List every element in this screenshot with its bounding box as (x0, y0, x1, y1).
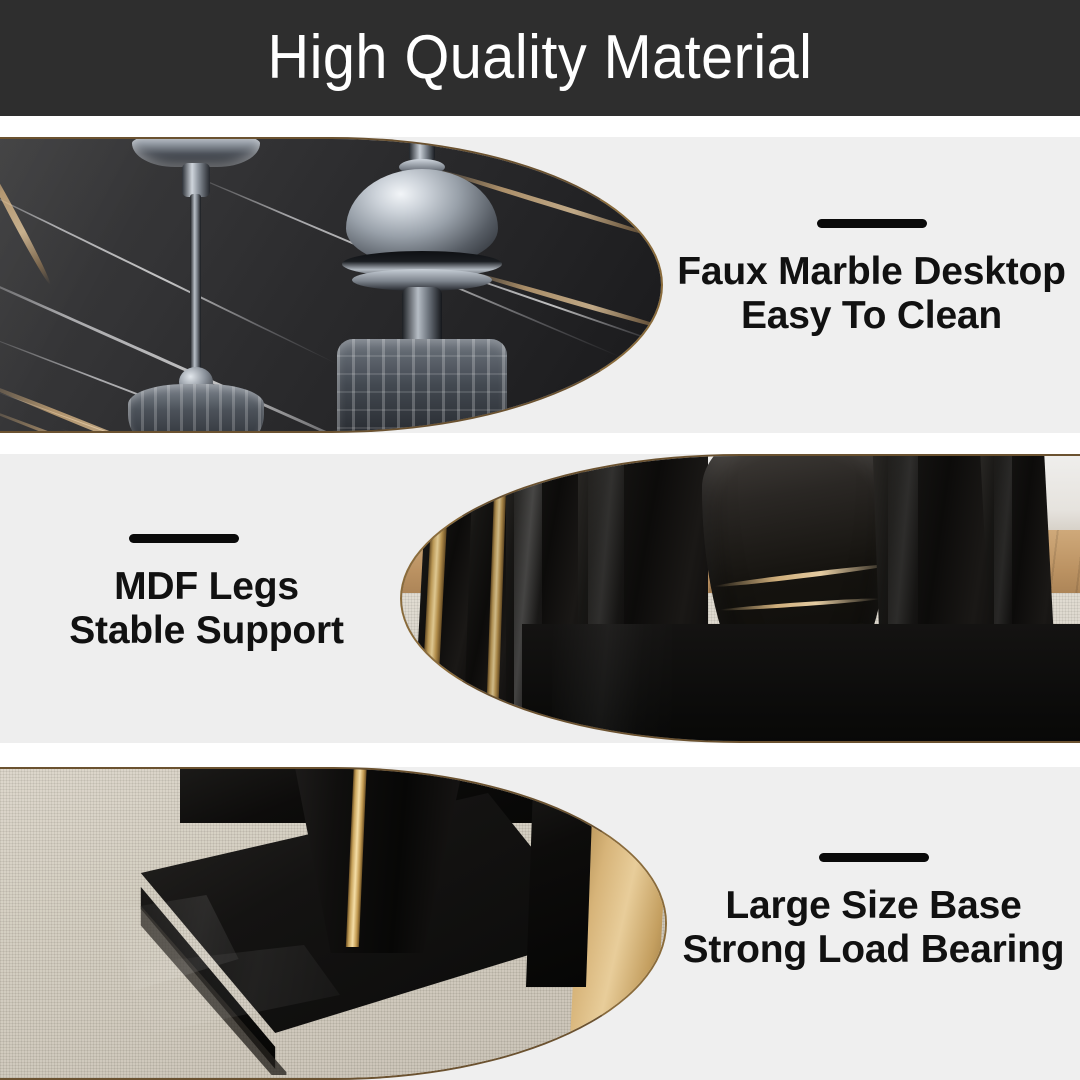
product-photo-faux-marble-desktop (0, 137, 663, 433)
feature-panel-mdf-legs: MDF Legs Stable Support (0, 454, 1080, 743)
feature-headline-line-2: Strong Load Bearing (683, 928, 1065, 972)
product-photo-large-size-base (0, 767, 667, 1080)
feature-headline-line-1: Large Size Base (725, 884, 1021, 928)
feature-headline-line-1: Faux Marble Desktop (677, 250, 1065, 294)
feature-text-mdf-legs: MDF Legs Stable Support (0, 534, 413, 653)
feature-headline-line-2: Easy To Clean (741, 294, 1002, 338)
feature-divider-dash (129, 534, 239, 543)
marble-surface (0, 139, 661, 431)
feature-panel-large-size-base: Large Size Base Strong Load Bearing (0, 767, 1080, 1080)
page-title: High Quality Material (268, 27, 813, 89)
product-photo-mdf-legs (400, 454, 1080, 743)
feature-divider-dash (819, 853, 929, 862)
feature-divider-dash (817, 219, 927, 228)
feature-panel-faux-marble-desktop: Faux Marble Desktop Easy To Clean (0, 137, 1080, 433)
feature-headline-line-1: MDF Legs (114, 565, 299, 609)
feature-text-large-size-base: Large Size Base Strong Load Bearing (667, 853, 1080, 972)
feature-headline-line-2: Stable Support (69, 609, 344, 653)
feature-text-faux-marble-desktop: Faux Marble Desktop Easy To Clean (663, 219, 1080, 338)
header-banner: High Quality Material (0, 0, 1080, 116)
